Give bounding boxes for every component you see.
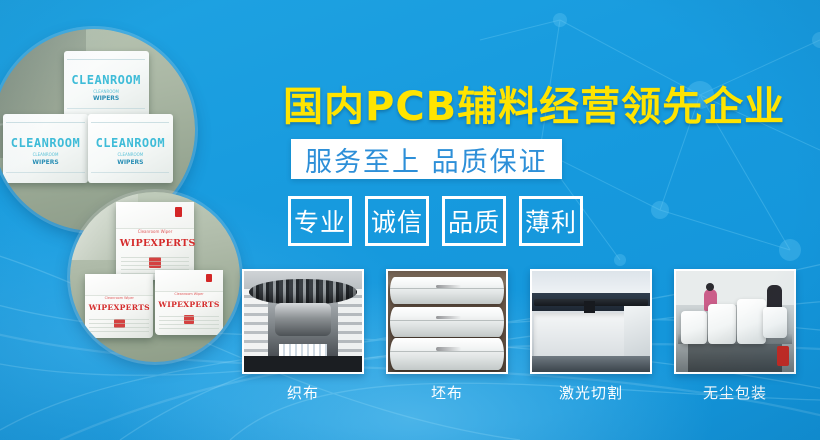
promotional-banner: CLEANROOM CLEANROOM WIPERS CLEANROOM CLE… — [0, 0, 820, 440]
vignette-overlay — [0, 0, 820, 440]
